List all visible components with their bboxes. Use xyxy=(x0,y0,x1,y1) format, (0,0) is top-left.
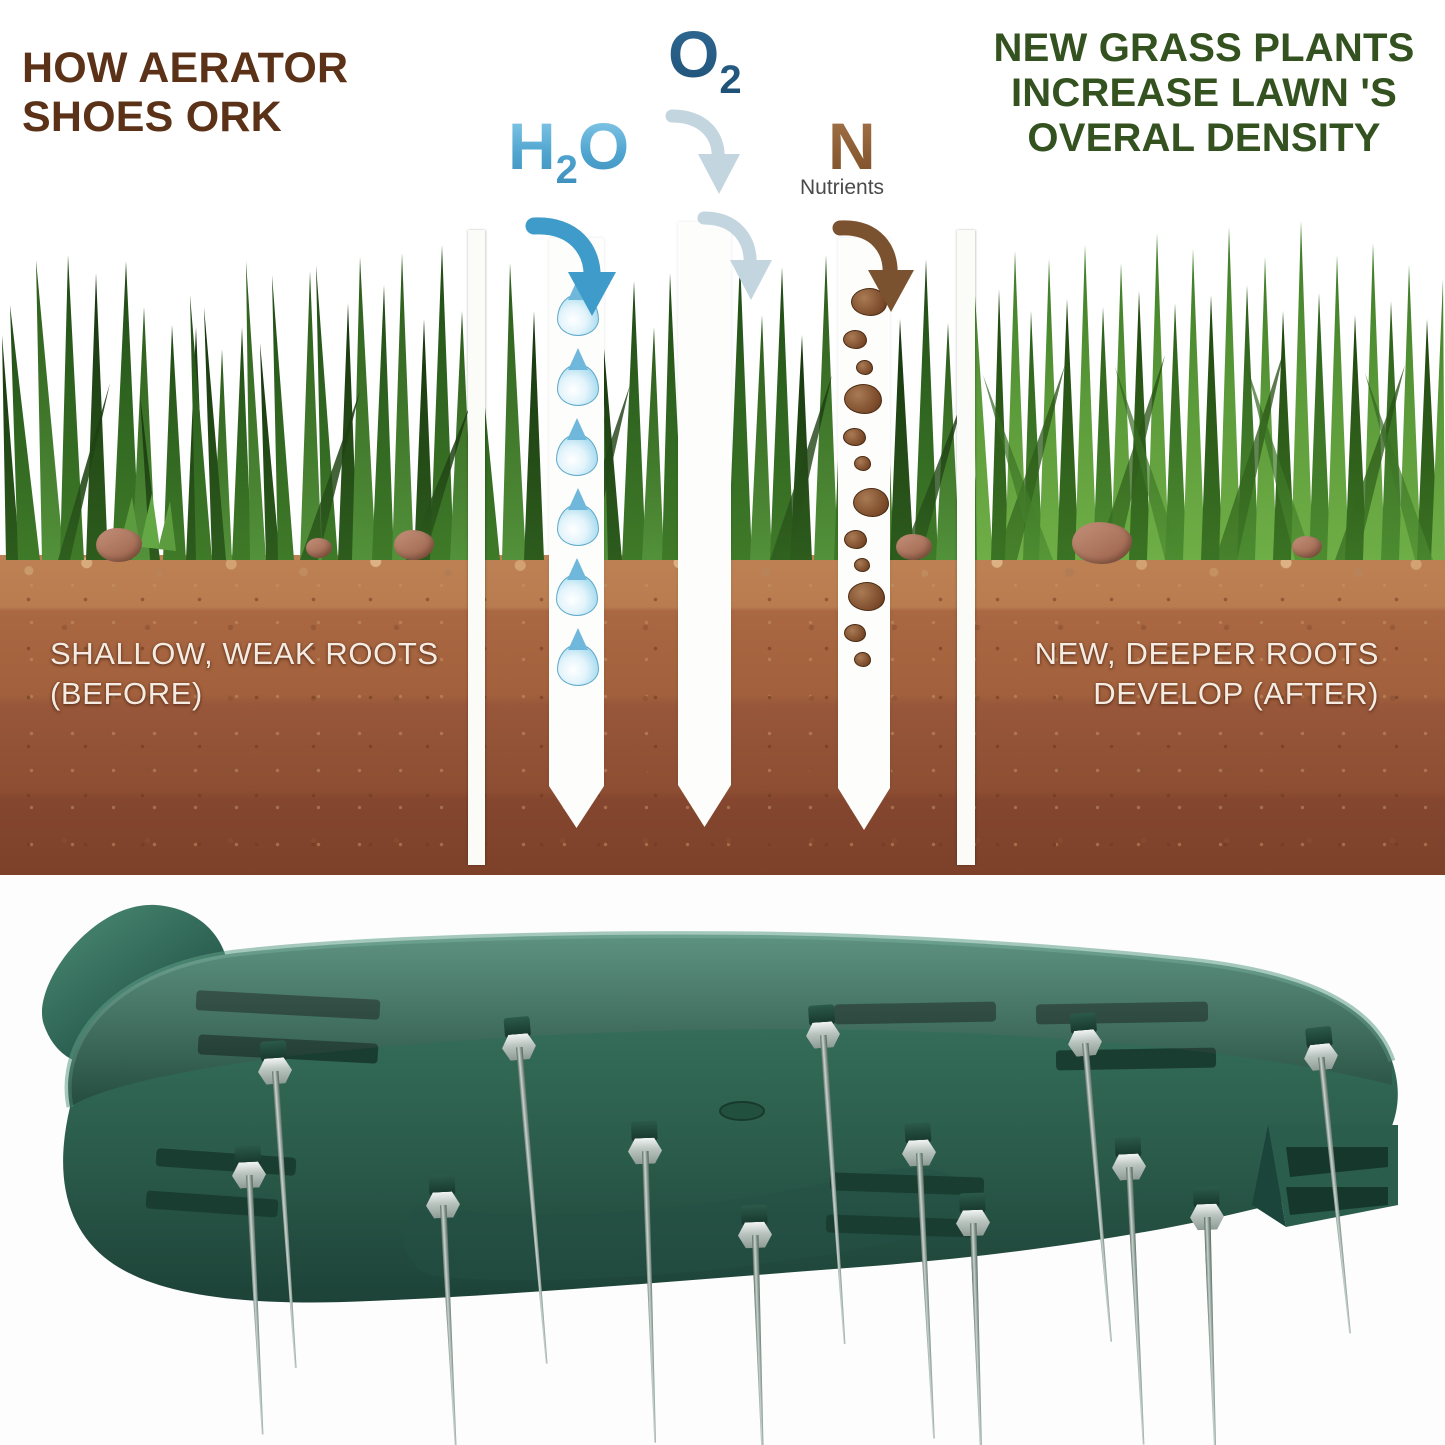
oxygen-channel-shaft xyxy=(678,222,731,785)
oxygen-formula-label: O2 xyxy=(668,16,742,103)
title-left-line2: SHOES ORK xyxy=(22,93,452,142)
oxygen-arrow-1 xyxy=(658,104,750,200)
nutrient-pellet xyxy=(856,360,873,375)
title-right-line3: OVERAL DENSITY xyxy=(989,116,1419,161)
title-left-line1: HOW AERATOR xyxy=(22,44,452,93)
caption-before-line2: (BEFORE) xyxy=(50,674,439,714)
nutrient-pellet xyxy=(844,530,867,549)
water-droplet xyxy=(557,504,599,546)
caption-before-line1: SHALLOW, WEAK ROOTS xyxy=(50,634,439,674)
oxygen-arrow-2 xyxy=(690,206,782,306)
nutrients-caption: Nutrients xyxy=(800,176,884,200)
water-droplet xyxy=(556,574,598,616)
caption-after: NEW, DEEPER ROOTS DEVELOP (AFTER) xyxy=(1035,634,1379,713)
nutrient-pellet xyxy=(843,428,866,446)
oxygen-channel-tip xyxy=(678,785,731,827)
water-formula-label: H2O xyxy=(508,108,629,193)
spike-pin xyxy=(970,1223,986,1445)
nutrient-pellet xyxy=(844,624,866,642)
section-divider-left xyxy=(468,230,485,865)
oxygen-formula-o: O xyxy=(668,17,719,91)
oxygen-channel xyxy=(678,222,731,827)
grass-dense-after xyxy=(965,215,1445,560)
nutrient-arrow xyxy=(826,214,926,318)
page-title-right: NEW GRASS PLANTS INCREASE LAWN 'S OVERAL… xyxy=(989,26,1419,162)
nitrogen-formula-label: N xyxy=(828,108,876,184)
water-formula-subscript: 2 xyxy=(556,148,578,192)
spike-pin xyxy=(752,1235,767,1445)
title-right-line2: INCREASE LAWN 'S xyxy=(989,71,1419,116)
water-arrow xyxy=(520,212,630,322)
product-photo-panel xyxy=(0,875,1445,1445)
water-channel xyxy=(549,238,604,828)
spike-pin xyxy=(642,1151,659,1443)
title-right-line1: NEW GRASS PLANTS xyxy=(989,26,1419,71)
nutrient-pellet xyxy=(844,384,882,414)
nutrient-channel-tip xyxy=(838,788,890,830)
water-droplet xyxy=(556,434,598,476)
caption-after-line1: NEW, DEEPER ROOTS xyxy=(1035,634,1379,674)
oxygen-formula-subscript: 2 xyxy=(719,58,741,102)
grass-sparse-before xyxy=(0,215,480,560)
water-droplet xyxy=(557,364,599,406)
nutrient-pellet xyxy=(854,456,871,471)
aerator-infographic: SHALLOW, WEAK ROOTS (BEFORE) NEW, DEEPER… xyxy=(0,0,1445,1445)
nutrient-pellet xyxy=(848,582,885,611)
caption-before: SHALLOW, WEAK ROOTS (BEFORE) xyxy=(50,634,439,713)
water-droplet xyxy=(557,644,599,686)
water-formula-o: O xyxy=(578,109,629,183)
aeration-diagram-panel: SHALLOW, WEAK ROOTS (BEFORE) NEW, DEEPER… xyxy=(0,0,1445,875)
nutrient-channel xyxy=(838,238,890,830)
aerator-shoe-image xyxy=(0,875,1445,1445)
water-channel-tip xyxy=(549,786,604,828)
spike-pin xyxy=(1204,1217,1220,1445)
nutrient-pellet xyxy=(843,330,867,349)
caption-after-line2: DEVELOP (AFTER) xyxy=(1035,674,1379,714)
nutrient-pellet xyxy=(853,488,889,517)
section-divider-right xyxy=(957,230,975,865)
page-title-left: HOW AERATOR SHOES ORK xyxy=(22,44,452,141)
nutrient-pellet xyxy=(854,558,870,572)
water-formula-h: H xyxy=(508,109,556,183)
strap-anchor-hole xyxy=(720,1102,764,1120)
nutrient-pellet xyxy=(854,652,871,667)
